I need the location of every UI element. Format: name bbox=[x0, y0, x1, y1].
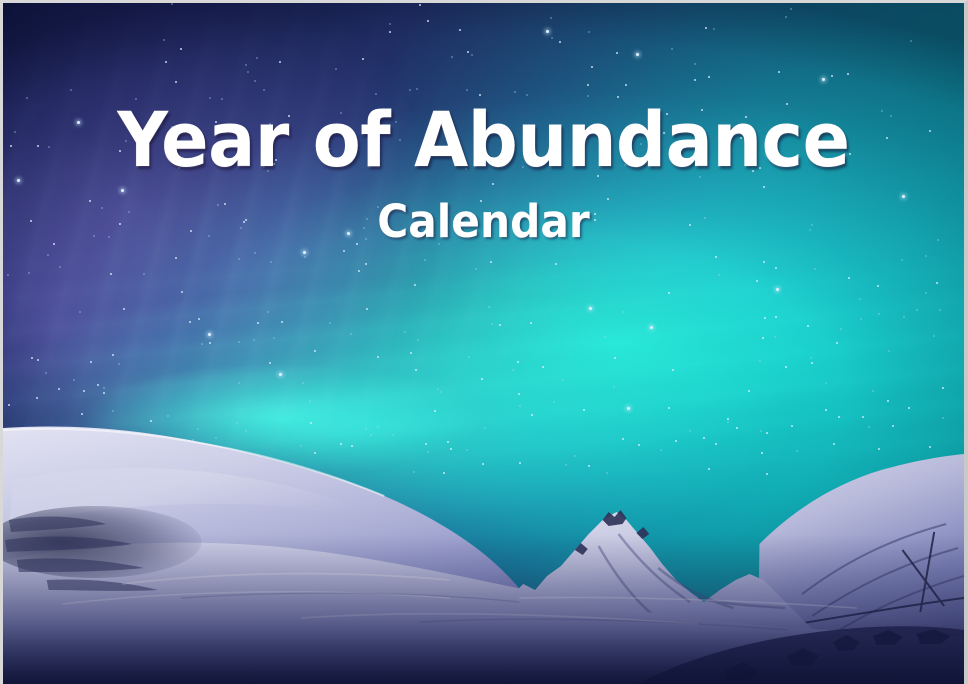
snow-landscape bbox=[3, 384, 964, 684]
background-photo bbox=[3, 3, 964, 684]
title-slide: Year of Abundance Calendar bbox=[0, 0, 968, 684]
foreground-shadow bbox=[3, 534, 964, 684]
